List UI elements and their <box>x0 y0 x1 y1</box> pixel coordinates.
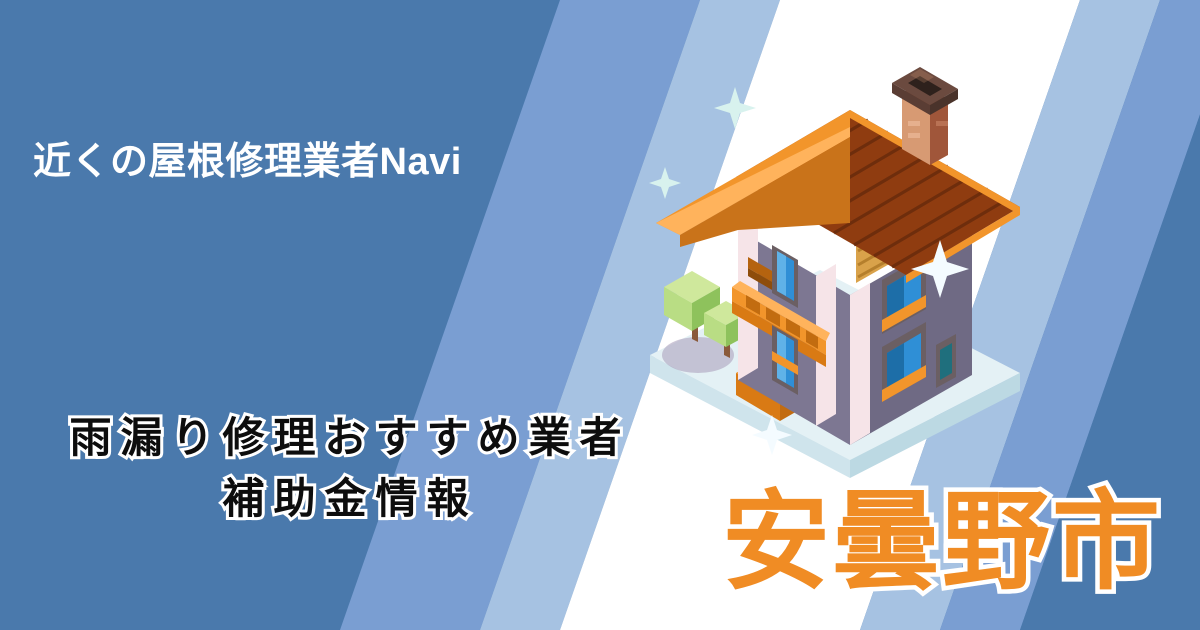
city-name-label: 安曇野市 <box>722 485 1162 598</box>
sparkle-sky-upper <box>714 87 756 129</box>
headline-line-2: 補助金情報 <box>0 469 700 530</box>
sparkle-sky-left <box>649 167 681 199</box>
page-title: 雨漏り修理おすすめ業者 補助金情報 <box>0 408 700 530</box>
site-logo-text: 近くの屋根修理業者Navi <box>33 140 462 186</box>
headline-line-1: 雨漏り修理おすすめ業者 <box>0 408 700 469</box>
roof-left-plane <box>656 110 850 247</box>
ogp-banner: 近くの屋根修理業者Navi 雨漏り修理おすすめ業者 補助金情報 安曇野市 <box>0 0 1200 630</box>
